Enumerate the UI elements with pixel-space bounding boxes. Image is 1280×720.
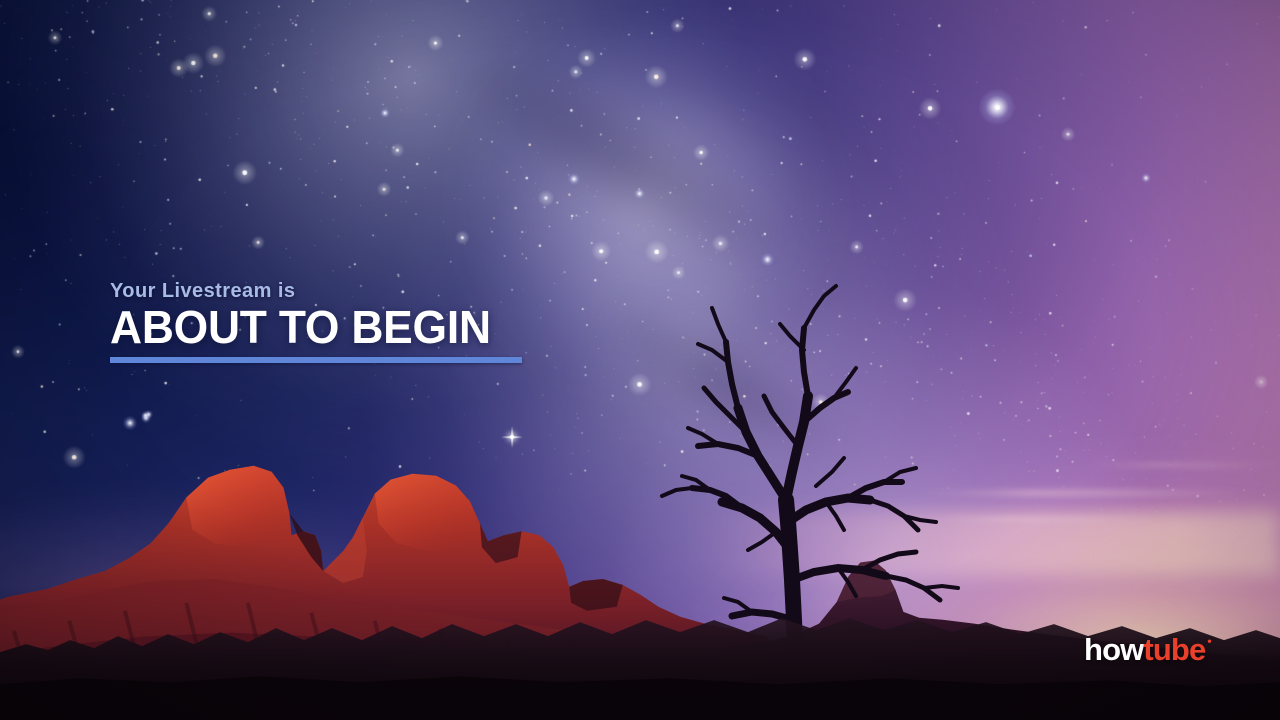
logo-text-tube: tube bbox=[1143, 634, 1205, 665]
logo-text-how: how bbox=[1084, 634, 1143, 665]
page-title: ABOUT TO BEGIN bbox=[110, 304, 650, 352]
title-underline-rule bbox=[110, 357, 522, 363]
livestream-holding-slide: Your Livestream is ABOUT TO BEGIN howtub… bbox=[0, 0, 1280, 720]
howtube-logo[interactable]: howtube• bbox=[1084, 634, 1211, 665]
title-block: Your Livestream is ABOUT TO BEGIN bbox=[110, 281, 670, 363]
logo-trademark-mark: • bbox=[1207, 635, 1210, 647]
eyebrow-text: Your Livestream is bbox=[110, 281, 670, 302]
